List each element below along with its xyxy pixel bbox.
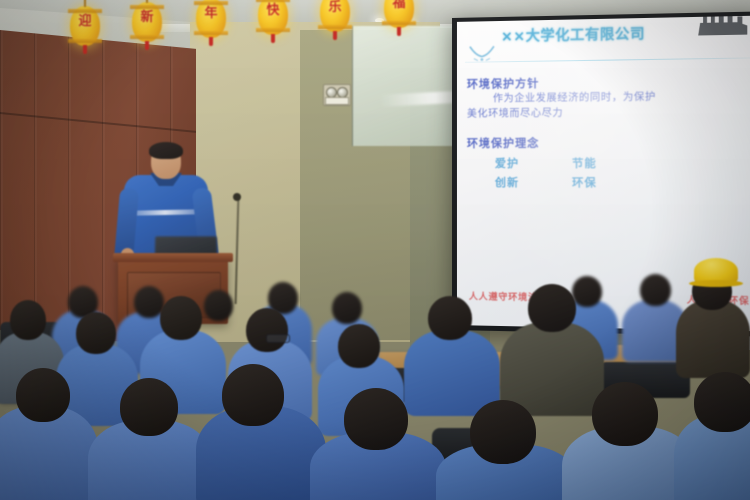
lantern-band: [194, 1, 228, 5]
lantern-band: [130, 5, 164, 9]
title-divider: [465, 57, 750, 62]
lantern-band: [130, 35, 164, 39]
podium-top-edge: [113, 253, 233, 262]
audience-head: [344, 388, 408, 450]
audience-head: [160, 296, 202, 340]
hanging-lantern: 福: [384, 0, 414, 28]
hanging-lantern: 乐: [320, 0, 350, 32]
concept-term: 节能: [572, 157, 634, 171]
lantern-glyph: 年: [196, 7, 226, 20]
lantern-glyph: 新: [132, 11, 162, 24]
audience-torso: [404, 330, 500, 416]
audience-head: [572, 276, 602, 307]
audience-head: [16, 368, 70, 422]
company-logo-icon: [467, 43, 497, 62]
audience-head: [246, 308, 288, 352]
slide-title: ××大学化工有限公司: [501, 24, 749, 46]
presenter-hair: [149, 142, 183, 159]
audience-head: [338, 324, 380, 368]
audience-head: [76, 312, 116, 354]
lantern-tassel: [209, 37, 213, 46]
concept-term: 爱护: [495, 157, 556, 171]
concept-term: 环保: [572, 176, 634, 190]
emergency-exit-lamp: [323, 84, 351, 106]
audience-head: [470, 400, 536, 464]
lantern-glyph: 乐: [320, 1, 350, 14]
concept-term: 创新: [495, 176, 556, 190]
lamp-label-plate: [325, 97, 349, 105]
audience-head: [332, 292, 362, 324]
lantern-tassel: [333, 31, 337, 40]
slide-section-1: 环境保护方针 作为企业发展经济的同时，为保护 美化环境而尽心尽力: [467, 73, 750, 122]
lantern-tassel: [271, 34, 275, 43]
hanging-lantern: 迎: [70, 6, 100, 46]
audience-head: [204, 290, 233, 321]
lantern-tassel: [397, 27, 401, 36]
lantern-glyph: 迎: [70, 15, 100, 28]
audience-head: [592, 382, 658, 446]
lantern-band: [68, 9, 102, 13]
lantern-band: [318, 25, 352, 29]
audience-head: [222, 364, 284, 426]
microphone-head: [233, 193, 241, 201]
lantern-band: [68, 39, 102, 43]
eyeglasses: [266, 334, 290, 343]
conference-room-photo: 迎 新 年 快 乐 福 ××大学化工有限公司: [0, 0, 750, 500]
lantern-band: [382, 21, 416, 25]
lantern-glyph: 快: [258, 4, 288, 17]
section-2-heading: 环境保护理念: [467, 134, 750, 150]
audience-head: [528, 284, 576, 332]
yellow-hardhat-icon: [694, 258, 738, 284]
lantern-band: [194, 31, 228, 35]
audience-torso: [676, 300, 750, 378]
lantern-glyph: 福: [384, 0, 414, 10]
audience-head: [10, 300, 46, 340]
lantern-band: [256, 28, 290, 32]
audience-head: [640, 274, 671, 306]
body-line: 美化环境而尽心尽力: [467, 104, 750, 122]
lantern-tassel: [83, 45, 87, 54]
lantern-tassel: [145, 41, 149, 50]
lantern-band: [256, 0, 290, 2]
audience-head: [694, 372, 750, 432]
hanging-lantern: 年: [196, 0, 226, 38]
concept-term-grid: 爱护 节能 创新 环保: [467, 156, 750, 190]
audience-head: [428, 296, 472, 340]
hanging-lantern: 新: [132, 2, 162, 42]
audience-head: [120, 378, 178, 436]
slide-section-2: 环境保护理念 爱护 节能 创新 环保: [467, 134, 750, 190]
hanging-lantern: 快: [258, 0, 288, 35]
